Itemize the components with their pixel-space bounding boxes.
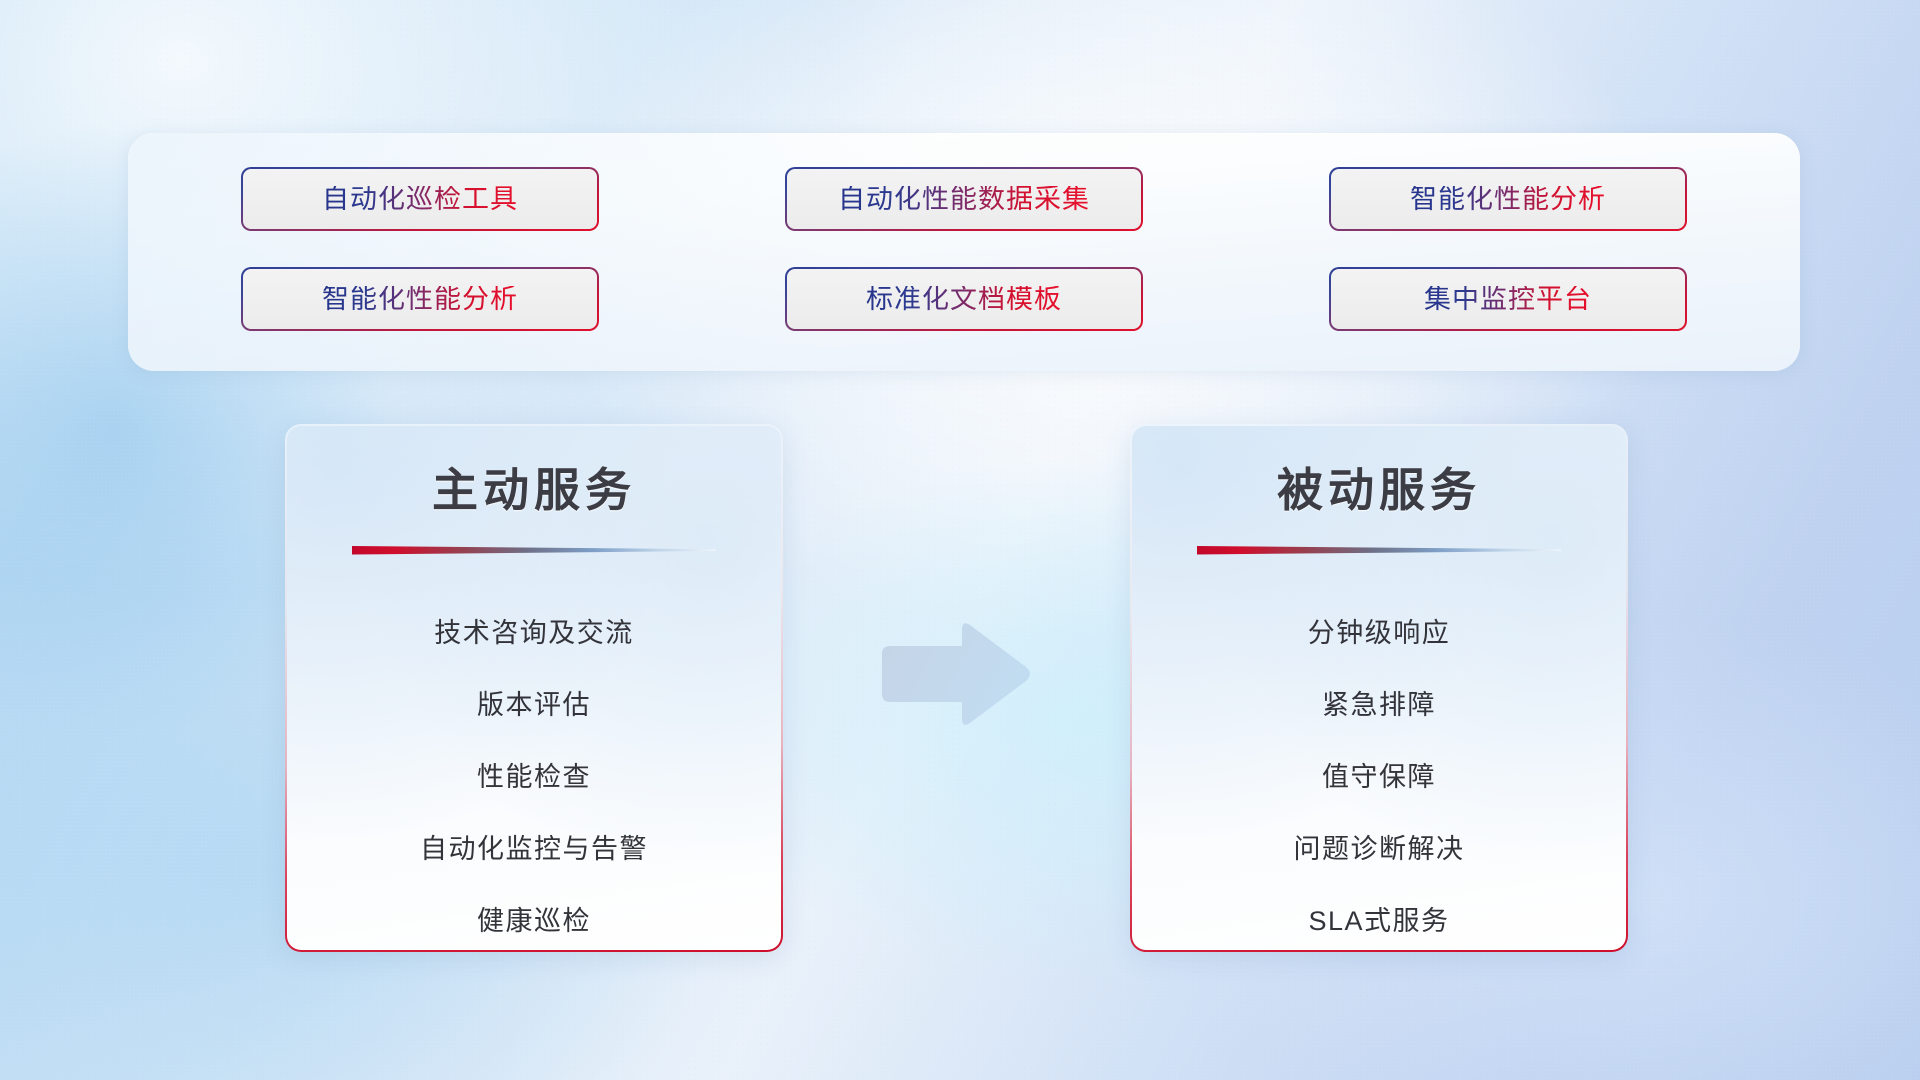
capability-button-surface: 自动化性能数据采集 bbox=[787, 169, 1141, 229]
service-item-list: 技术咨询及交流 版本评估 性能检查 自动化监控与告警 健康巡检 bbox=[287, 555, 781, 950]
capability-button-surface: 集中监控平台 bbox=[1331, 269, 1685, 329]
service-list-item: 技术咨询及交流 bbox=[287, 597, 781, 669]
service-card-title: 主动服务 bbox=[287, 426, 781, 520]
capability-button-intelligent-performance-analysis-top[interactable]: 智能化性能分析 bbox=[1329, 167, 1687, 231]
service-list-item: 紧急排障 bbox=[1132, 669, 1626, 741]
title-divider bbox=[1197, 544, 1561, 555]
service-card-surface: 被动服务 分钟级响应 紧急排障 bbox=[1132, 426, 1626, 950]
capability-button-automated-inspection-tool[interactable]: 自动化巡检工具 bbox=[241, 167, 599, 231]
service-card-title: 被动服务 bbox=[1132, 426, 1626, 520]
capability-button-centralized-monitoring-platform[interactable]: 集中监控平台 bbox=[1329, 267, 1687, 331]
service-list-item: 版本评估 bbox=[287, 669, 781, 741]
service-card-proactive[interactable]: 主动服务 技术咨询及交流 版本评估 bbox=[285, 424, 783, 952]
capability-panel: 自动化巡检工具 自动化性能数据采集 智能化性能分析 智能化性能分析 标准化文档模… bbox=[128, 133, 1800, 371]
capability-button-label: 智能化性能分析 bbox=[322, 286, 518, 313]
capability-button-grid: 自动化巡检工具 自动化性能数据采集 智能化性能分析 智能化性能分析 标准化文档模… bbox=[128, 133, 1800, 371]
capability-button-automated-performance-data-collection[interactable]: 自动化性能数据采集 bbox=[785, 167, 1143, 231]
capability-button-surface: 标准化文档模板 bbox=[787, 269, 1141, 329]
capability-button-label: 智能化性能分析 bbox=[1410, 186, 1606, 213]
service-list-item: 自动化监控与告警 bbox=[287, 813, 781, 885]
capability-button-label: 集中监控平台 bbox=[1424, 286, 1592, 313]
capability-button-label: 标准化文档模板 bbox=[866, 286, 1062, 313]
service-list-item: 健康巡检 bbox=[287, 885, 781, 950]
service-card-reactive[interactable]: 被动服务 分钟级响应 紧急排障 bbox=[1130, 424, 1628, 952]
service-list-item: 分钟级响应 bbox=[1132, 597, 1626, 669]
capability-button-intelligent-performance-analysis-bottom[interactable]: 智能化性能分析 bbox=[241, 267, 599, 331]
service-card-surface: 主动服务 技术咨询及交流 版本评估 bbox=[287, 426, 781, 950]
service-list-item: SLA式服务 bbox=[1132, 885, 1626, 950]
arrow-right-icon bbox=[874, 620, 1034, 728]
title-divider bbox=[352, 544, 716, 555]
capability-button-surface: 智能化性能分析 bbox=[1331, 169, 1685, 229]
capability-button-label: 自动化性能数据采集 bbox=[838, 186, 1090, 213]
capability-button-surface: 自动化巡检工具 bbox=[243, 169, 597, 229]
capability-button-label: 自动化巡检工具 bbox=[322, 186, 518, 213]
capability-button-standardized-document-template[interactable]: 标准化文档模板 bbox=[785, 267, 1143, 331]
service-list-item: 问题诊断解决 bbox=[1132, 813, 1626, 885]
service-item-list: 分钟级响应 紧急排障 值守保障 问题诊断解决 SLA式服务 bbox=[1132, 555, 1626, 950]
capability-button-surface: 智能化性能分析 bbox=[243, 269, 597, 329]
service-list-item: 值守保障 bbox=[1132, 741, 1626, 813]
service-list-item: 性能检查 bbox=[287, 741, 781, 813]
